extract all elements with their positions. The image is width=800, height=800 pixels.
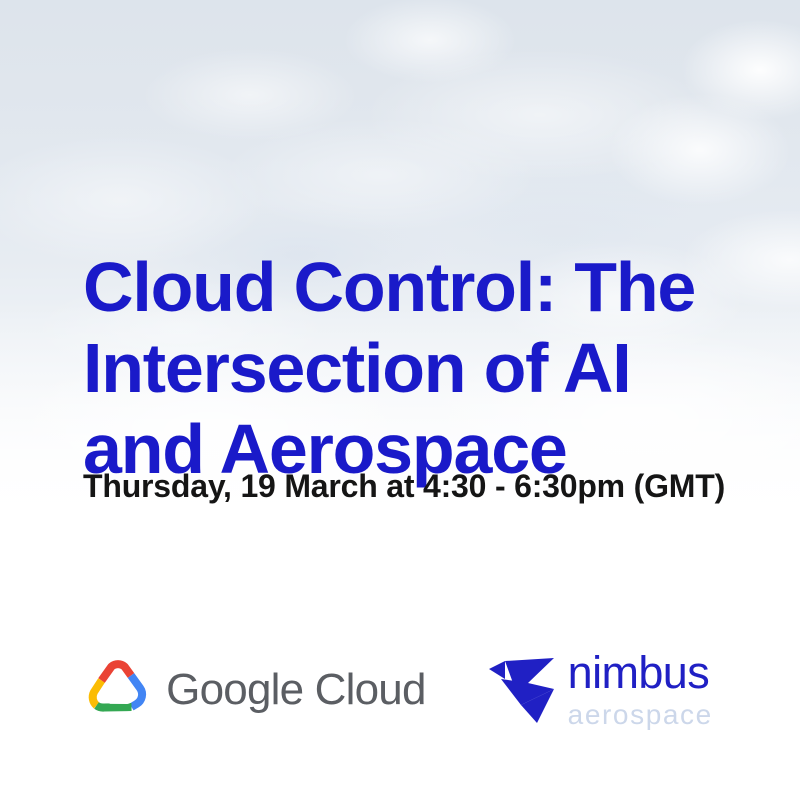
logo-row: Google Cloud nimbus aerospace	[0, 640, 800, 740]
nimbus-wordmark: nimbus	[568, 649, 713, 697]
event-datetime: Thursday, 19 March at 4:30 - 6:30pm (GMT…	[83, 466, 783, 506]
google-cloud-logo: Google Cloud	[87, 658, 425, 722]
google-cloud-wordmark: Google Cloud	[166, 668, 425, 712]
page-title: Cloud Control: The Intersection of AI an…	[83, 247, 783, 490]
nimbus-aerospace-logo: nimbus aerospace	[488, 651, 713, 729]
nimbus-tagline: aerospace	[568, 699, 713, 731]
google-cloud-icon	[87, 660, 149, 721]
event-poster: Cloud Control: The Intersection of AI an…	[0, 0, 800, 800]
nimbus-wordmark-stack: nimbus aerospace	[568, 649, 713, 731]
origami-bird-icon	[488, 649, 562, 732]
